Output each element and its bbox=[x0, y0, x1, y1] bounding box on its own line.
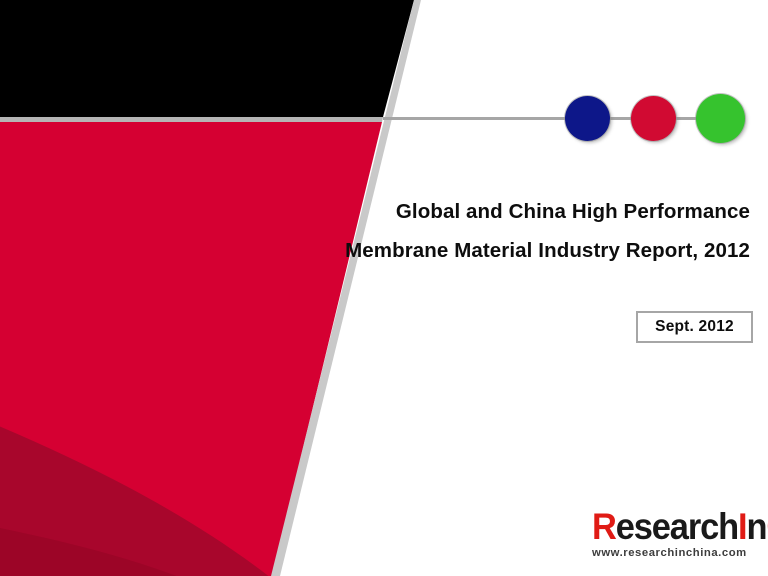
logo-url: www.researchinchina.com bbox=[592, 547, 760, 559]
green-circle-icon bbox=[696, 94, 745, 143]
logo-letter: esearch bbox=[616, 506, 738, 547]
black-panel bbox=[0, 0, 414, 117]
red-circle-icon bbox=[631, 96, 676, 141]
black-panel-divider bbox=[0, 117, 383, 122]
publication-date-label: Sept. 2012 bbox=[655, 318, 734, 336]
publication-date-badge: Sept. 2012 bbox=[636, 311, 753, 343]
cover-background-artwork bbox=[0, 0, 768, 576]
title-line-1: Global and China High Performance bbox=[300, 192, 750, 231]
logo-wordmark: ResearchInChina bbox=[592, 508, 748, 546]
blue-circle-icon bbox=[565, 96, 610, 141]
title-line-2: Membrane Material Industry Report, 2012 bbox=[300, 231, 750, 270]
report-cover-slide: Global and China High Performance Membra… bbox=[0, 0, 768, 576]
logo-letter: R bbox=[592, 506, 616, 547]
researchinchina-logo: ResearchInChina www.researchinchina.com bbox=[592, 508, 760, 559]
logo-letter: I bbox=[738, 506, 746, 547]
page-title: Global and China High Performance Membra… bbox=[300, 192, 750, 270]
logo-letter: n bbox=[746, 506, 766, 547]
